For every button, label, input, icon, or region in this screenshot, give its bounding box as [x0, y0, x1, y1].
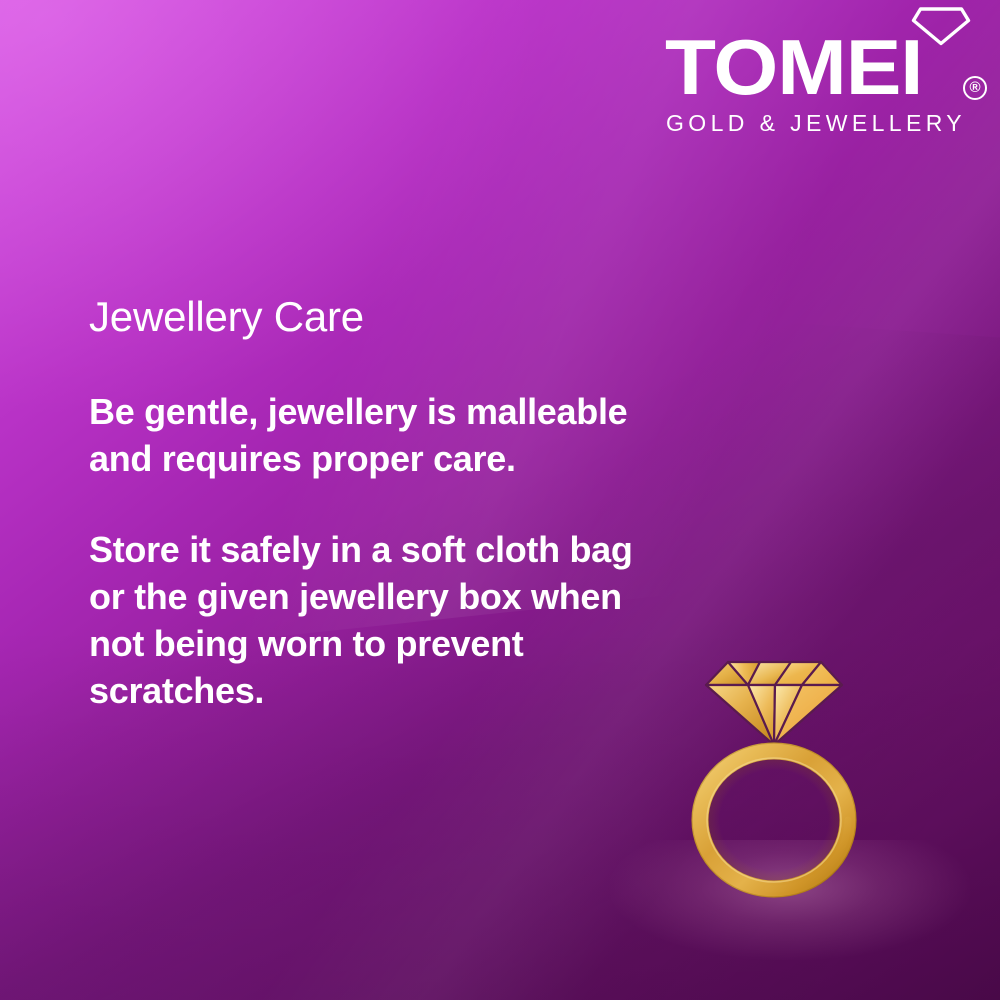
tomei-logo: TOMEI ® GOLD & JEWELLERY: [663, 6, 993, 142]
gold-diamond-ring-illustration: [690, 640, 890, 930]
care-copy-block: Jewellery Care Be gentle, jewellery is m…: [89, 292, 649, 714]
registered-trademark-icon: ®: [963, 76, 987, 100]
brand-tagline: GOLD & JEWELLERY: [666, 110, 966, 136]
brilliant-cut-gem: [706, 662, 842, 745]
care-paragraph-1: Be gentle, jewellery is malleable and re…: [89, 388, 649, 482]
jewellery-care-poster: TOMEI ® GOLD & JEWELLERY Jewellery Care …: [0, 0, 1000, 1000]
ring-graphic: [690, 640, 890, 930]
page-title: Jewellery Care: [89, 292, 649, 342]
brand-wordmark: TOMEI: [665, 28, 922, 106]
care-paragraph-2: Store it safely in a soft cloth bag or t…: [89, 526, 649, 714]
gold-band: [692, 743, 856, 897]
